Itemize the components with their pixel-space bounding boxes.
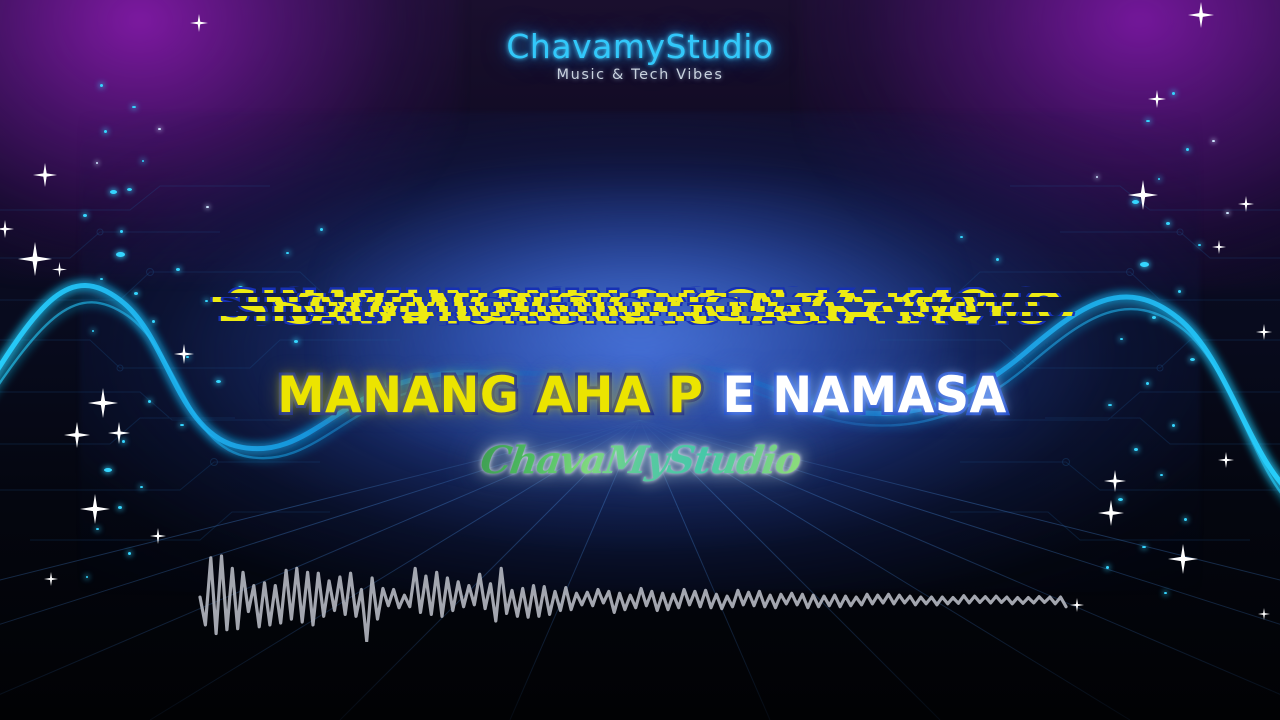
glitch-slice-text: SINAMUNGNING NGA KA MO xyxy=(241,282,1011,284)
glitch-slice-text: SINAMUNGNING NGA KA MO xyxy=(271,302,1041,306)
signature-text: ChavaMyStudio xyxy=(477,437,802,482)
glitch-slice-text: SINAMUNGNING NGA KA MO xyxy=(307,312,1077,316)
channel-logo: ChavamyStudio Music & Tech Vibes xyxy=(0,30,1280,83)
glitch-slice-text: SINAMUNGNING NGA KA MO xyxy=(225,287,995,293)
audio-waveform xyxy=(0,532,1280,642)
glitch-slice-text: SINAMUNGNING NGA KA MO xyxy=(299,331,1069,335)
lyric-unsung-text: E NAMASA xyxy=(722,366,1006,424)
glitch-slice-text: SINAMUNGNING NGA KA MO xyxy=(295,293,1065,297)
signature-watermark: ChavaMyStudio xyxy=(0,437,1280,482)
channel-logo-name: ChavamyStudio xyxy=(0,30,1280,63)
previous-lyric-glitched: SINAMUNGNING NGA KA MO SINAMUNGNING NGA … xyxy=(0,278,1280,340)
channel-logo-tagline: Music & Tech Vibes xyxy=(0,68,1280,83)
active-lyric-line: MANANG AHA PE NAMASA xyxy=(0,366,1280,424)
glitch-slice-text: SINAMUNGNING NGA KA MO xyxy=(277,283,1047,287)
glitch-slice-text: SINAMUNGNING NGA KA MO xyxy=(283,321,1053,325)
glitch-slice-text: SINAMUNGNING NGA KA MO xyxy=(209,297,979,302)
glitch-slice-text: SINAMUNGNING NGA KA MO xyxy=(217,316,987,321)
glitch-slice-text: SINAMUNGNING NGA KA MO xyxy=(235,306,1005,312)
waveform-path xyxy=(200,556,1066,641)
glitch-slice-text: SINAMUNGNING NGA KA MO xyxy=(245,325,1015,331)
video-frame: ChavamyStudio Music & Tech Vibes SINAMUN… xyxy=(0,0,1280,720)
lyric-sung-text: MANANG AHA P xyxy=(277,366,703,424)
